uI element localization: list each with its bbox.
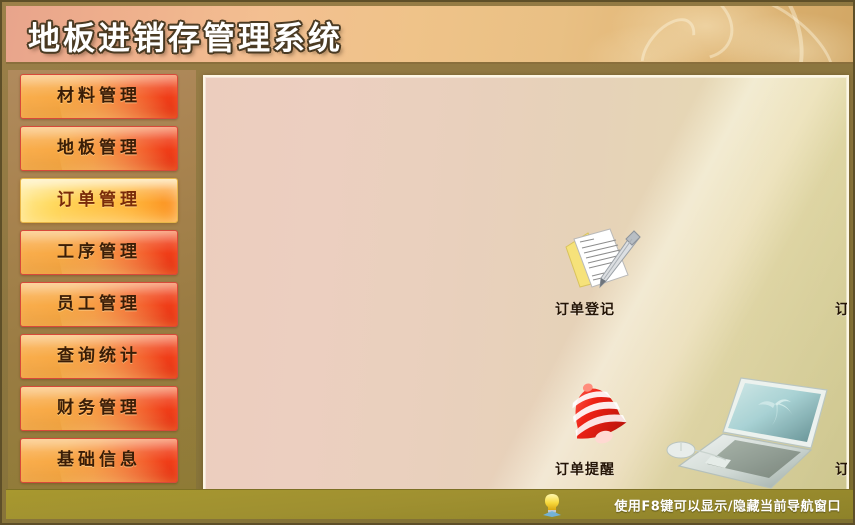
sidebar-item-label: 员工管理: [21, 283, 177, 326]
red-bell-icon: [510, 377, 660, 453]
application-window: 地板进销存管理系统 材料管理地板管理订单管理工序管理员工管理查询统计财务管理基础…: [0, 0, 855, 525]
sidebar-item-label: 财务管理: [21, 387, 177, 430]
module-order-register[interactable]: 订单登记: [510, 217, 660, 319]
sidebar-item-finance[interactable]: 财务管理: [20, 386, 178, 431]
status-message: 使用F8键可以显示/隐藏当前导航窗口: [614, 495, 841, 514]
module-label: 订单登记: [510, 299, 660, 319]
person-check-icon: [790, 377, 849, 453]
sidebar-item-label: 材料管理: [21, 75, 177, 118]
module-label: 订单签收: [790, 299, 849, 319]
sidebar-item-material[interactable]: 材料管理: [20, 74, 178, 119]
sidebar-item-order[interactable]: 订单管理: [20, 178, 178, 223]
sidebar-item-label: 查询统计: [21, 335, 177, 378]
module-order-tracking[interactable]: 订单跟踪: [790, 377, 849, 479]
sidebar-item-floor[interactable]: 地板管理: [20, 126, 178, 171]
sidebar-item-label: 地板管理: [21, 127, 177, 170]
sidebar-item-basic[interactable]: 基础信息: [20, 438, 178, 483]
lightbulb-icon: [541, 493, 563, 517]
sidebar-item-label: 订单管理: [21, 179, 177, 222]
module-order-receipt[interactable]: 订单签收: [790, 217, 849, 319]
status-bar: 使用F8键可以显示/隐藏当前导航窗口: [6, 489, 853, 519]
sidebar-item-query[interactable]: 查询统计: [20, 334, 178, 379]
app-title: 地板进销存管理系统: [28, 13, 343, 59]
sidebar-item-process[interactable]: 工序管理: [20, 230, 178, 275]
document-pen-icon: [510, 217, 660, 293]
content-panel: 订单登记: [203, 75, 849, 492]
module-label: 订单跟踪: [790, 459, 849, 479]
module-order-reminder[interactable]: 订单提醒: [510, 377, 660, 479]
sidebar-item-employee[interactable]: 员工管理: [20, 282, 178, 327]
module-label: 订单提醒: [510, 459, 660, 479]
app-header: 地板进销存管理系统: [6, 6, 853, 64]
sidebar-item-label: 工序管理: [21, 231, 177, 274]
person-book-icon: [790, 217, 849, 293]
sidebar-item-label: 基础信息: [21, 439, 177, 482]
sidebar-navigation: 材料管理地板管理订单管理工序管理员工管理查询统计财务管理基础信息: [8, 70, 196, 518]
